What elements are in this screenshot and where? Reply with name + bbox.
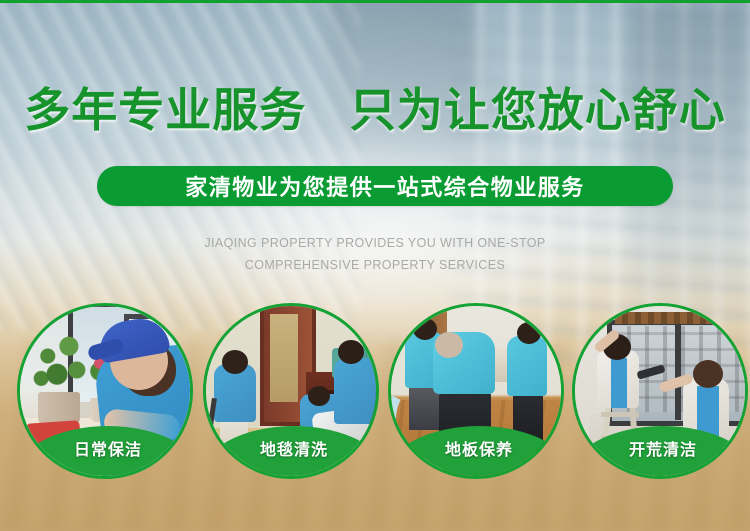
service-label-floor-maintenance: 地板保养 [445, 436, 513, 479]
tagline-pill: 家清物业为您提供一站式综合物业服务 [97, 166, 673, 206]
background-tower-shadow [630, 0, 750, 330]
headline: 多年专业服务 只为让您放心舒心 [0, 82, 750, 138]
top-accent-rule [0, 0, 750, 3]
service-circle-row: 日常保洁 [0, 303, 750, 485]
service-circle-daily-cleaning[interactable]: 日常保洁 [17, 303, 193, 479]
english-subtitle-line-1: JIAQING PROPERTY PROVIDES YOU WITH ONE-S… [0, 232, 750, 254]
service-label-carpet-cleaning: 地毯清洗 [260, 436, 328, 479]
english-subtitle: JIAQING PROPERTY PROVIDES YOU WITH ONE-S… [0, 232, 750, 276]
tagline-text: 家清物业为您提供一站式综合物业服务 [185, 170, 585, 202]
service-label-daily-cleaning: 日常保洁 [74, 436, 142, 479]
service-circle-carpet-cleaning[interactable]: 地毯清洗 [203, 303, 379, 479]
service-circle-floor-maintenance[interactable]: 地板保养 [388, 303, 564, 479]
headline-part-1: 多年专业服务 [24, 84, 306, 136]
english-subtitle-line-2: COMPREHENSIVE PROPERTY SERVICES [0, 254, 750, 276]
service-label-deep-clean: 开荒清洁 [629, 436, 697, 479]
service-circle-deep-clean[interactable]: 开荒清洁 [572, 303, 748, 479]
promo-banner: 多年专业服务 只为让您放心舒心 家清物业为您提供一站式综合物业服务 JIAQIN… [0, 0, 750, 531]
headline-part-2: 只为让您放心舒心 [350, 84, 726, 136]
